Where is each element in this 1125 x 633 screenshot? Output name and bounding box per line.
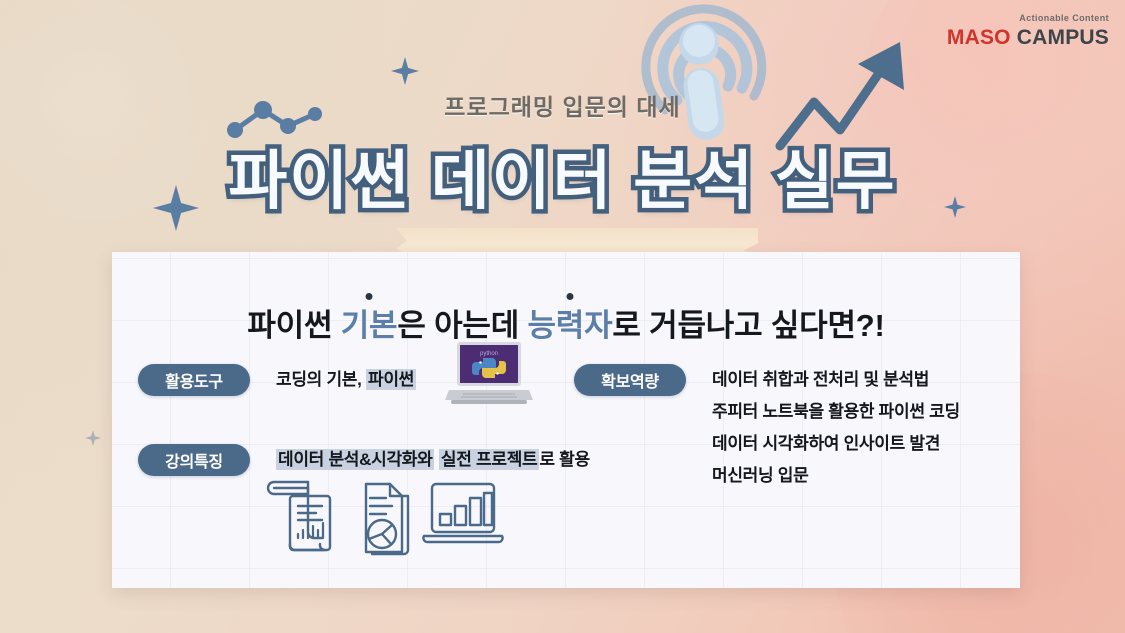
feature-highlight-2: 실전 프로젝트	[439, 449, 539, 470]
laptop-bar-chart-icon	[423, 484, 502, 542]
promo-banner: Actionable Content MASO CAMPUS	[0, 0, 1125, 633]
list-item: 데이터 시각화하여 인사이트 발견	[712, 428, 960, 460]
feature-row: 강의특징 데이터 분석&시각화와 실전 프로젝트로 활용	[138, 444, 578, 476]
svg-text:python: python	[480, 351, 498, 357]
tool-text-highlight: 파이썬	[366, 369, 416, 390]
list-item: 데이터 취합과 전처리 및 분석법	[712, 364, 960, 396]
tool-text-plain: 코딩의 기본,	[276, 370, 366, 389]
feature-highlight-1: 데이터 분석&시각화와	[276, 449, 434, 470]
feature-description: 데이터 분석&시각화와 실전 프로젝트로 활용	[276, 444, 590, 476]
tool-description: 코딩의 기본, 파이썬	[276, 364, 416, 396]
pie-chart-document-icon	[366, 484, 408, 554]
headline-part-3: 로 거듭나고 싶다면?!	[612, 308, 884, 343]
headline-part-1: 파이썬	[247, 308, 340, 343]
skill-list: 데이터 취합과 전처리 및 분석법 주피터 노트북을 활용한 파이썬 코딩 데이…	[712, 364, 960, 492]
skill-row: 확보역량 데이터 취합과 전처리 및 분석법 주피터 노트북을 활용한 파이썬 …	[574, 364, 1004, 492]
list-item: 머신러닝 입문	[712, 460, 960, 492]
pill-skill: 확보역량	[574, 364, 686, 396]
pill-feature: 강의특징	[138, 444, 250, 476]
laptop-python-icon: python	[443, 338, 535, 421]
analytics-icon-group	[266, 476, 506, 563]
list-item: 주피터 노트북을 활용한 파이썬 코딩	[712, 396, 960, 428]
hero-title: 파이썬 데이터 분석 실무	[0, 130, 1125, 222]
pill-tool: 활용도구	[138, 364, 250, 396]
content-card: 파이썬 기본은 아는데 능력자로 거듭나고 싶다면?! 활용도구 코딩의 기본,…	[112, 252, 1020, 588]
right-column: 확보역량 데이터 취합과 전처리 및 분석법 주피터 노트북을 활용한 파이썬 …	[574, 364, 1004, 492]
sparkle-icon	[85, 430, 101, 446]
hero-subtitle: 프로그래밍 입문의 대세	[0, 88, 1125, 122]
report-documents-icon	[268, 482, 330, 550]
card-headline: 파이썬 기본은 아는데 능력자로 거듭나고 싶다면?!	[112, 300, 1020, 345]
headline-highlight-1: 기본	[341, 308, 398, 343]
hero-section: 프로그래밍 입문의 대세 파이썬 데이터 분석 실무	[0, 0, 1125, 222]
headline-highlight-2: 능력자	[527, 308, 612, 343]
